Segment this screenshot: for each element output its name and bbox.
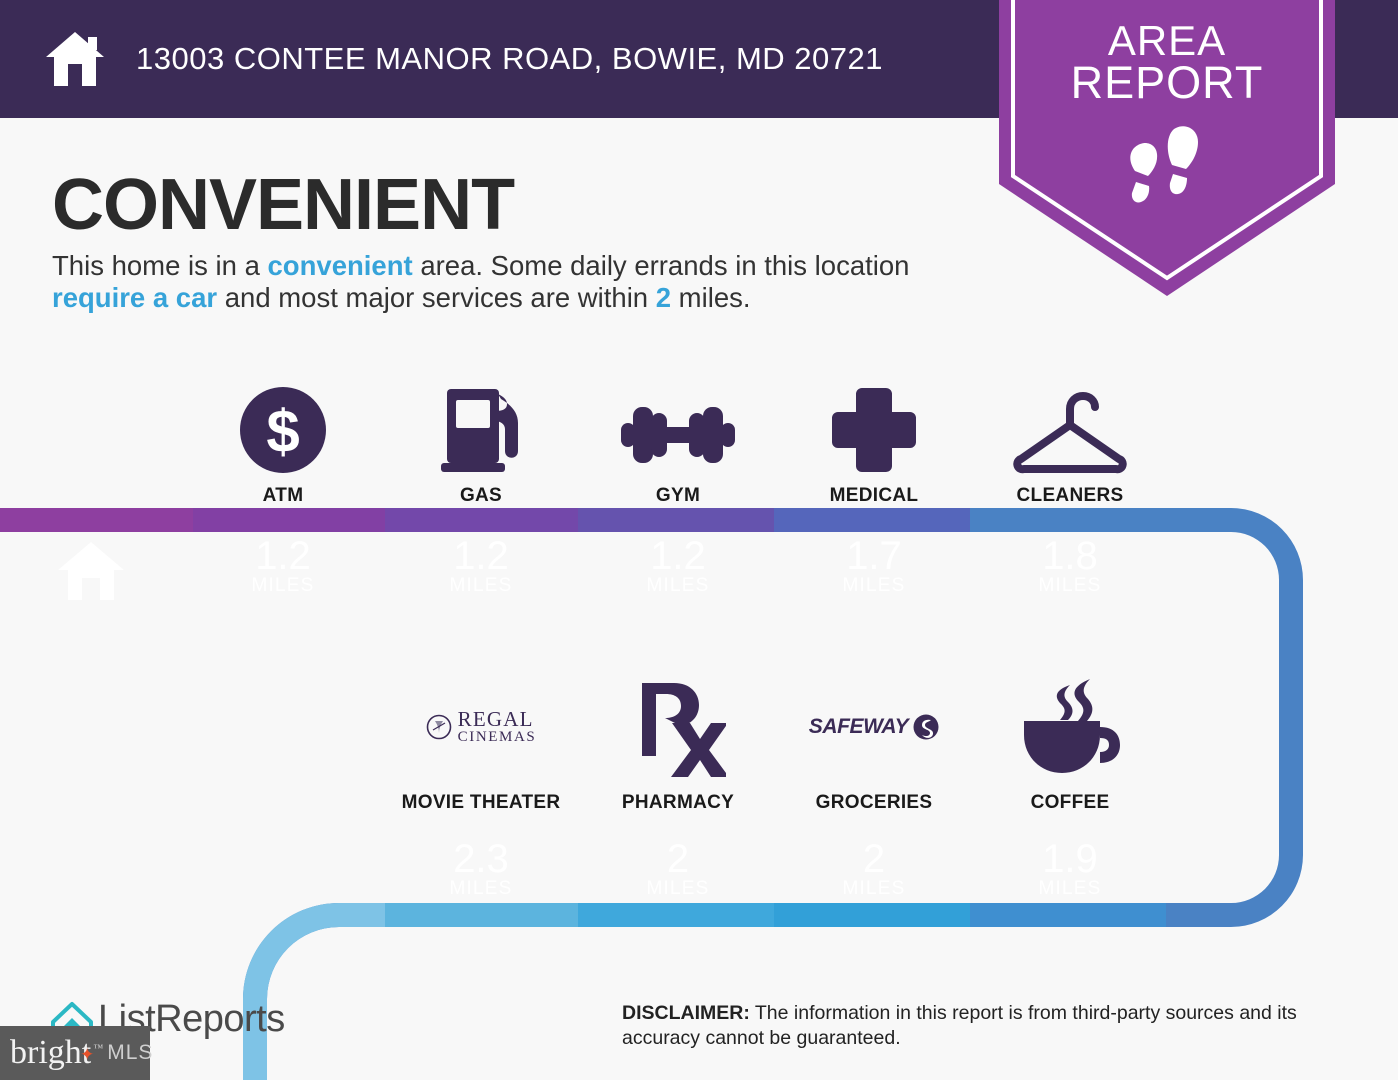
origin-house-icon [56, 540, 126, 607]
amenity-pharmacy: PHARMACY [580, 672, 776, 814]
distance-medical: 1.7 MILES [776, 535, 972, 597]
distance-value: 2.3 [383, 838, 579, 880]
distance-value: 1.2 [580, 535, 776, 577]
disclaimer-label: DISCLAIMER: [622, 1002, 750, 1024]
distance-gym: 1.2 MILES [580, 535, 776, 597]
distance-groceries: 2 MILES [776, 838, 972, 900]
distance-unit: MILES [383, 878, 579, 900]
distance-cleaners: 1.8 MILES [972, 535, 1168, 597]
distance-value: 1.9 [972, 838, 1168, 880]
bright-mls-bright-text: bright ✦ ™ [10, 1036, 91, 1070]
rx-icon [580, 672, 776, 782]
safeway-s-mark-icon [913, 714, 939, 740]
area-report-page: 13003 CONTEE MANOR ROAD, BOWIE, MD 20721… [0, 0, 1398, 1080]
distance-unit: MILES [580, 575, 776, 597]
amenity-label: PHARMACY [580, 792, 776, 814]
amenity-label: GROCERIES [776, 792, 972, 814]
amenity-movie-theater: REGAL CINEMAS MOVIE THEATER [383, 672, 579, 814]
distance-value: 2 [776, 838, 972, 880]
trademark-symbol: ™ [93, 1032, 103, 1066]
amenity-groceries: SAFEWAY GROCERIES [776, 672, 972, 814]
distance-unit: MILES [185, 575, 381, 597]
regal-brand-line2: CINEMAS [458, 730, 537, 745]
distance-atm: 1.2 MILES [185, 535, 381, 597]
safeway-brand-text: SAFEWAY [809, 715, 908, 739]
regal-mark-icon [426, 714, 452, 740]
footprints-icon [999, 124, 1335, 208]
bright-mls-mls-text: MLS [107, 1041, 153, 1065]
coffee-cup-icon [972, 672, 1168, 782]
distance-unit: MILES [776, 575, 972, 597]
distance-coffee: 1.9 MILES [972, 838, 1168, 900]
distance-unit: MILES [383, 575, 579, 597]
distance-value: 2 [580, 838, 776, 880]
disclaimer: DISCLAIMER: The information in this repo… [622, 1001, 1342, 1051]
distance-value: 1.2 [383, 535, 579, 577]
distance-gas: 1.2 MILES [383, 535, 579, 597]
distance-value: 1.8 [972, 535, 1168, 577]
distance-unit: MILES [580, 878, 776, 900]
safeway-logo: SAFEWAY [776, 672, 972, 782]
badge-line2: REPORT [999, 62, 1335, 104]
distance-unit: MILES [972, 575, 1168, 597]
bright-mls-watermark: bright ✦ ™ MLS [0, 1026, 150, 1080]
distance-value: 1.7 [776, 535, 972, 577]
distance-pharmacy: 2 MILES [580, 838, 776, 900]
distance-movie-theater: 2.3 MILES [383, 838, 579, 900]
badge-title: AREA REPORT [999, 20, 1335, 104]
distance-unit: MILES [972, 878, 1168, 900]
area-report-badge: AREA REPORT [999, 0, 1335, 296]
regal-brand-line1: REGAL [458, 709, 537, 730]
distance-value: 1.2 [185, 535, 381, 577]
star-icon: ✦ [80, 1038, 94, 1072]
amenity-label: COFFEE [972, 792, 1168, 814]
regal-cinemas-logo: REGAL CINEMAS [383, 672, 579, 782]
distance-unit: MILES [776, 878, 972, 900]
amenity-coffee: COFFEE [972, 672, 1168, 814]
amenity-label: MOVIE THEATER [383, 792, 579, 814]
